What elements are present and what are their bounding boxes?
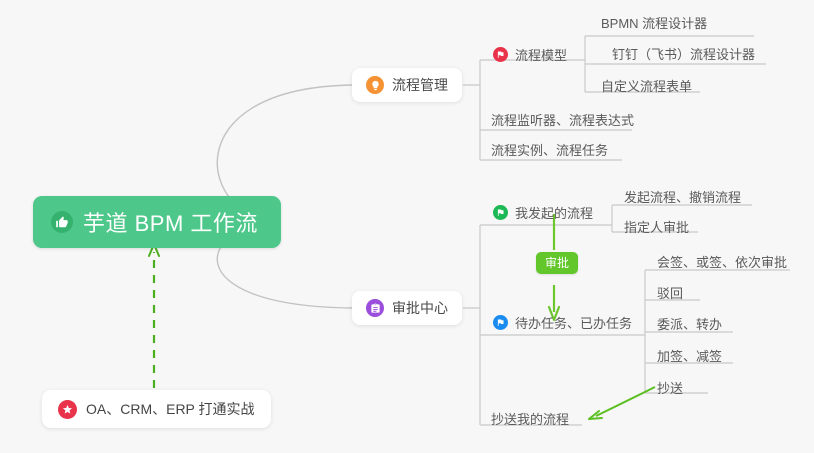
node-my-started-processes[interactable]: 我发起的流程 xyxy=(493,200,593,224)
node-countersign[interactable]: 会签、或签、依次审批 xyxy=(657,249,787,273)
node-label-my-started-processes: 我发起的流程 xyxy=(515,203,593,222)
root-label: 芋道 BPM 工作流 xyxy=(83,206,258,238)
node-label-cc-my-processes: 抄送我的流程 xyxy=(491,409,569,428)
node-add-remove-sign[interactable]: 加签、减签 xyxy=(657,343,722,367)
node-process-model[interactable]: 流程模型 xyxy=(493,42,567,66)
node-label-add-remove-sign: 加签、减签 xyxy=(657,346,722,365)
node-label-dingtalk-feishu-designer: 钉钉（飞书）流程设计器 xyxy=(612,44,755,63)
mindmap-canvas: 芋道 BPM 工作流 流程管理 流程模型 BPMN 流程设计器 钉钉（飞书）流程… xyxy=(0,0,814,453)
note-card-label: OA、CRM、ERP 打通实战 xyxy=(86,399,255,419)
node-label-cc: 抄送 xyxy=(657,378,683,397)
branch-node-process-management[interactable]: 流程管理 xyxy=(352,68,462,102)
node-label-reject: 驳回 xyxy=(657,283,683,302)
node-label-bpmn-designer: BPMN 流程设计器 xyxy=(601,13,707,32)
node-bpmn-designer[interactable]: BPMN 流程设计器 xyxy=(601,10,707,34)
node-todo-done-tasks[interactable]: 待办任务、已办任务 xyxy=(493,310,632,334)
clipboard-icon xyxy=(366,299,384,317)
node-instance-task[interactable]: 流程实例、流程任务 xyxy=(491,137,608,161)
node-label-assignee-approval: 指定人审批 xyxy=(624,217,689,236)
flag-icon xyxy=(493,205,508,220)
arrow-cc-to-cc-my-process xyxy=(589,387,655,419)
thumbs-up-icon xyxy=(51,211,73,233)
root-node[interactable]: 芋道 BPM 工作流 xyxy=(33,196,281,248)
node-assignee-approval[interactable]: 指定人审批 xyxy=(624,214,689,238)
node-cc[interactable]: 抄送 xyxy=(657,375,683,399)
branch-label-approval-center: 审批中心 xyxy=(392,298,448,318)
flag-icon xyxy=(493,315,508,330)
node-label-todo-done-tasks: 待办任务、已办任务 xyxy=(515,313,632,332)
node-label-start-cancel-process: 发起流程、撤销流程 xyxy=(624,187,741,206)
node-label-process-model: 流程模型 xyxy=(515,45,567,64)
node-start-cancel-process[interactable]: 发起流程、撤销流程 xyxy=(624,184,741,208)
branch-label-process-management: 流程管理 xyxy=(392,75,448,95)
node-dingtalk-feishu-designer[interactable]: 钉钉（飞书）流程设计器 xyxy=(612,41,755,65)
node-listener-expression[interactable]: 流程监听器、流程表达式 xyxy=(491,107,634,131)
node-label-listener-expression: 流程监听器、流程表达式 xyxy=(491,110,634,129)
node-label-countersign: 会签、或签、依次审批 xyxy=(657,252,787,271)
flow-badge-approval: 审批 xyxy=(536,252,578,274)
node-label-custom-process-form: 自定义流程表单 xyxy=(601,76,692,95)
branch-node-approval-center[interactable]: 审批中心 xyxy=(352,291,462,325)
dashed-arrow-note-to-root xyxy=(149,244,159,388)
lightbulb-icon xyxy=(366,76,384,94)
star-icon xyxy=(58,400,77,419)
node-reject[interactable]: 驳回 xyxy=(657,280,683,304)
node-delegate-transfer[interactable]: 委派、转办 xyxy=(657,311,722,335)
flag-icon xyxy=(493,47,508,62)
node-cc-my-processes[interactable]: 抄送我的流程 xyxy=(491,406,569,430)
node-custom-process-form[interactable]: 自定义流程表单 xyxy=(601,73,692,97)
node-label-delegate-transfer: 委派、转办 xyxy=(657,314,722,333)
note-card-integration[interactable]: OA、CRM、ERP 打通实战 xyxy=(42,390,271,428)
node-label-instance-task: 流程实例、流程任务 xyxy=(491,140,608,159)
